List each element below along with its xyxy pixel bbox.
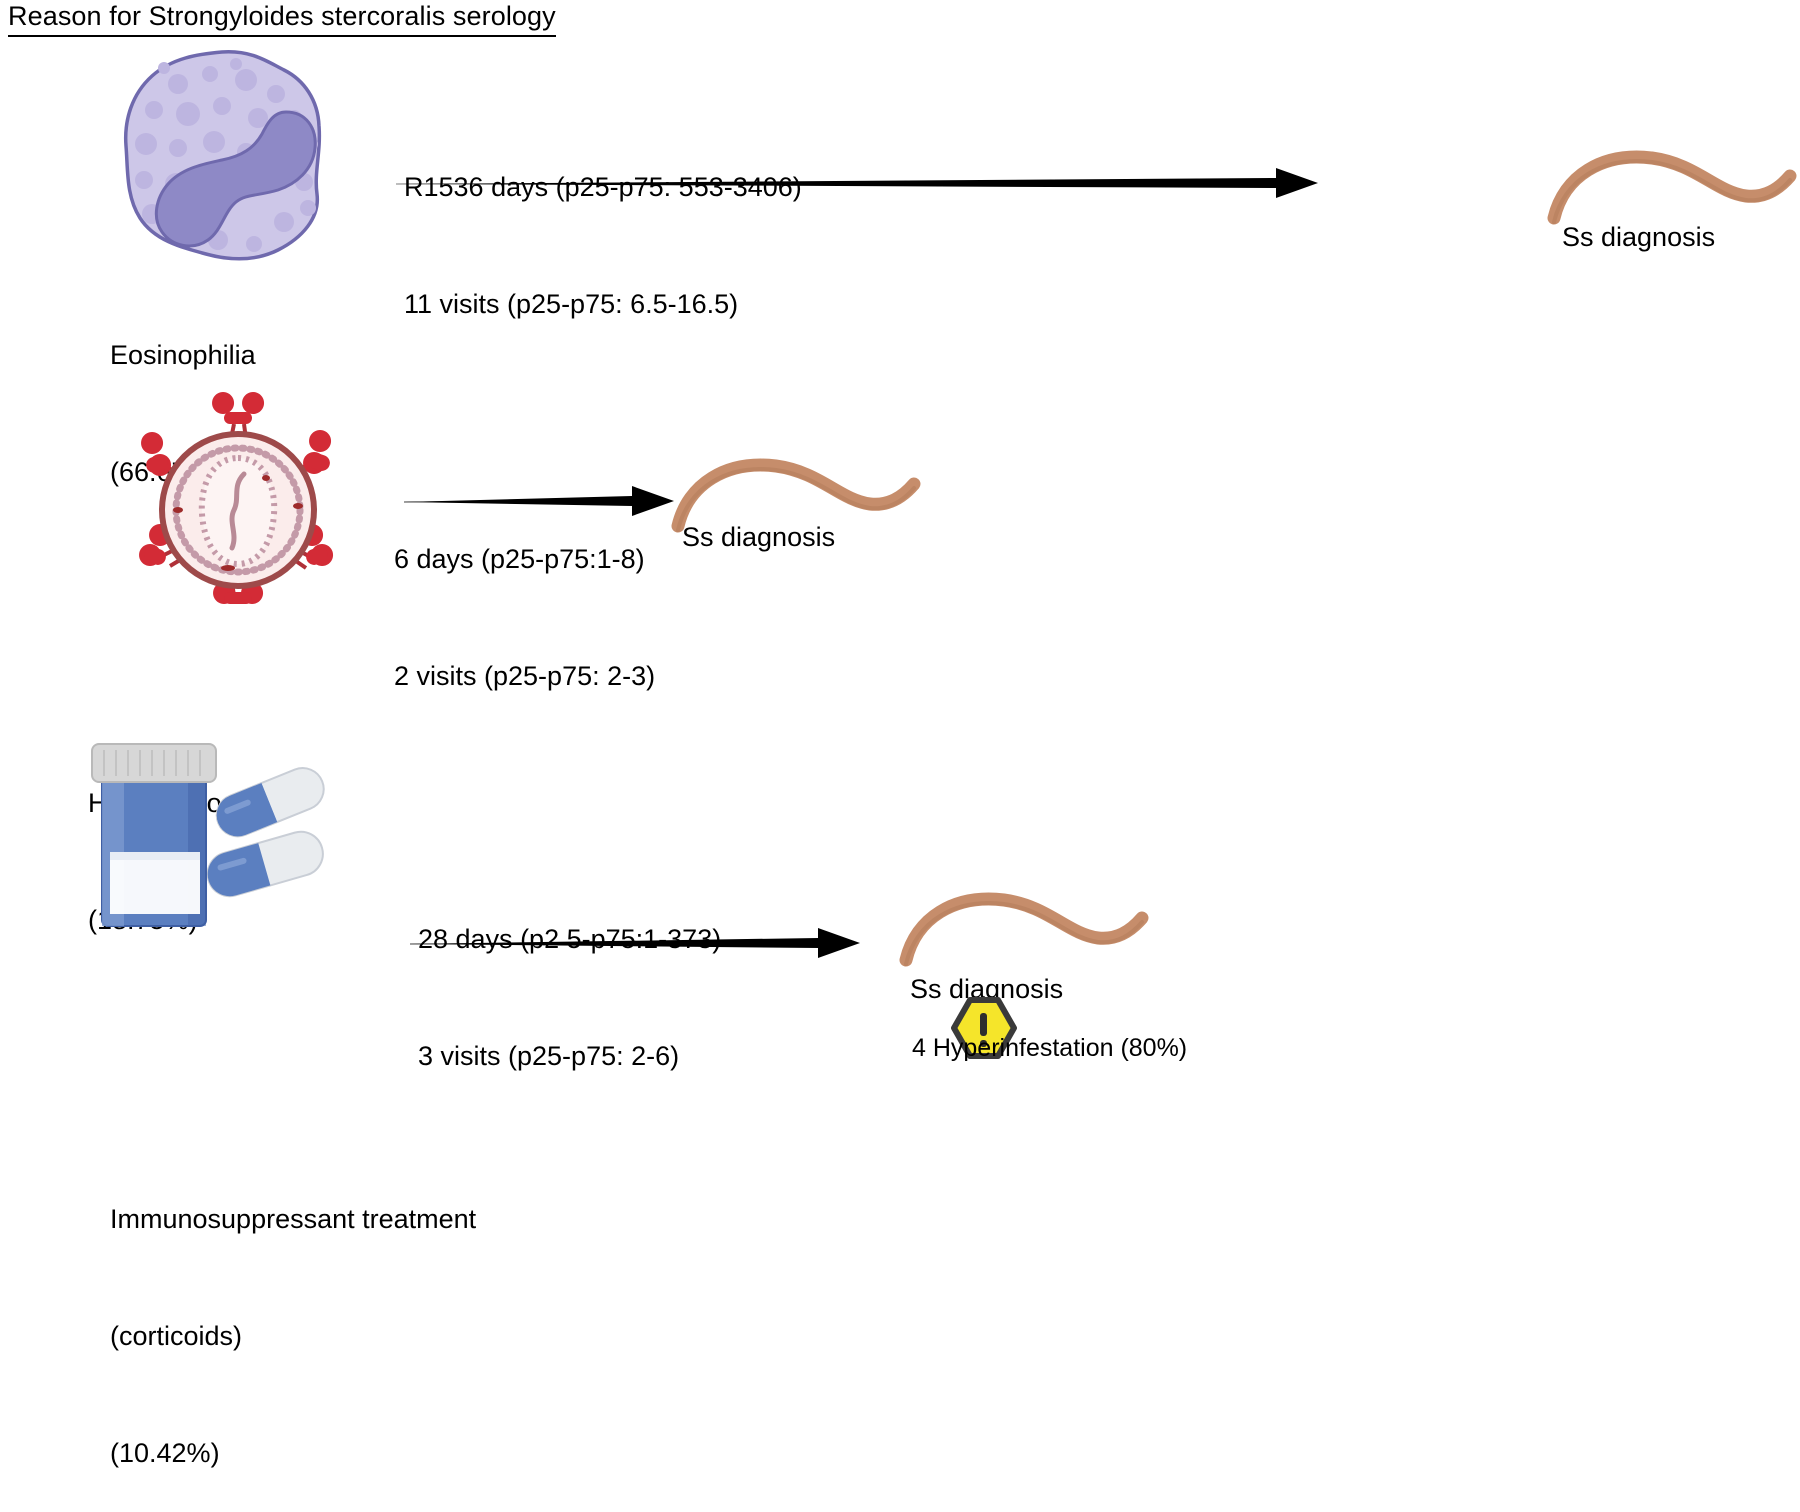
immunosuppressant-arrow	[410, 922, 880, 962]
immunosuppressant-label: Immunosuppressant treatment (corticoids)…	[110, 1122, 476, 1512]
eosinophilia-label-line-1: Eosinophilia	[110, 336, 256, 375]
hiv-annotation-line-2: 2 visits (p25-p75: 2-3)	[394, 657, 655, 696]
pill-bottle-icon	[88, 740, 358, 930]
immunosuppressant-label-line-3: (10.42%)	[110, 1434, 476, 1473]
hyperinfestation-note: 4 Hyperinfestation (80%)	[912, 1030, 1187, 1066]
eosinophilia-annotation-line-2: 11 visits (p25-p75: 6.5-16.5)	[404, 285, 802, 324]
ss-worm-icon-1	[1548, 140, 1798, 220]
hiv-arrow	[404, 480, 694, 520]
eosinophil-cell-icon	[118, 48, 328, 263]
ss-worm-icon-2	[672, 448, 922, 528]
immunosuppressant-label-line-2: (corticoids)	[110, 1317, 476, 1356]
immunosuppressant-label-line-1: Immunosuppressant treatment	[110, 1200, 476, 1239]
ss-worm-icon-3	[900, 882, 1150, 962]
hiv-annotation-line-1: 6 days (p25-p75:1-8)	[394, 540, 655, 579]
hiv-virus-icon	[116, 382, 356, 610]
eosinophilia-arrow	[396, 162, 1336, 202]
ss-diagnosis-label-1: Ss diagnosis	[1562, 218, 1715, 257]
page-title: Reason for Strongyloides stercoralis ser…	[8, 2, 556, 37]
immunosuppressant-annotation: 28 days (p2 5-p75:1-373) 3 visits (p25-p…	[418, 842, 721, 1115]
ss-diagnosis-label-2: Ss diagnosis	[682, 518, 835, 557]
eosinophilia-annotation: R1536 days (p25-p75: 553-3406) 11 visits…	[404, 90, 802, 363]
immunosuppressant-annotation-line-2: 3 visits (p25-p75: 2-6)	[418, 1037, 721, 1076]
